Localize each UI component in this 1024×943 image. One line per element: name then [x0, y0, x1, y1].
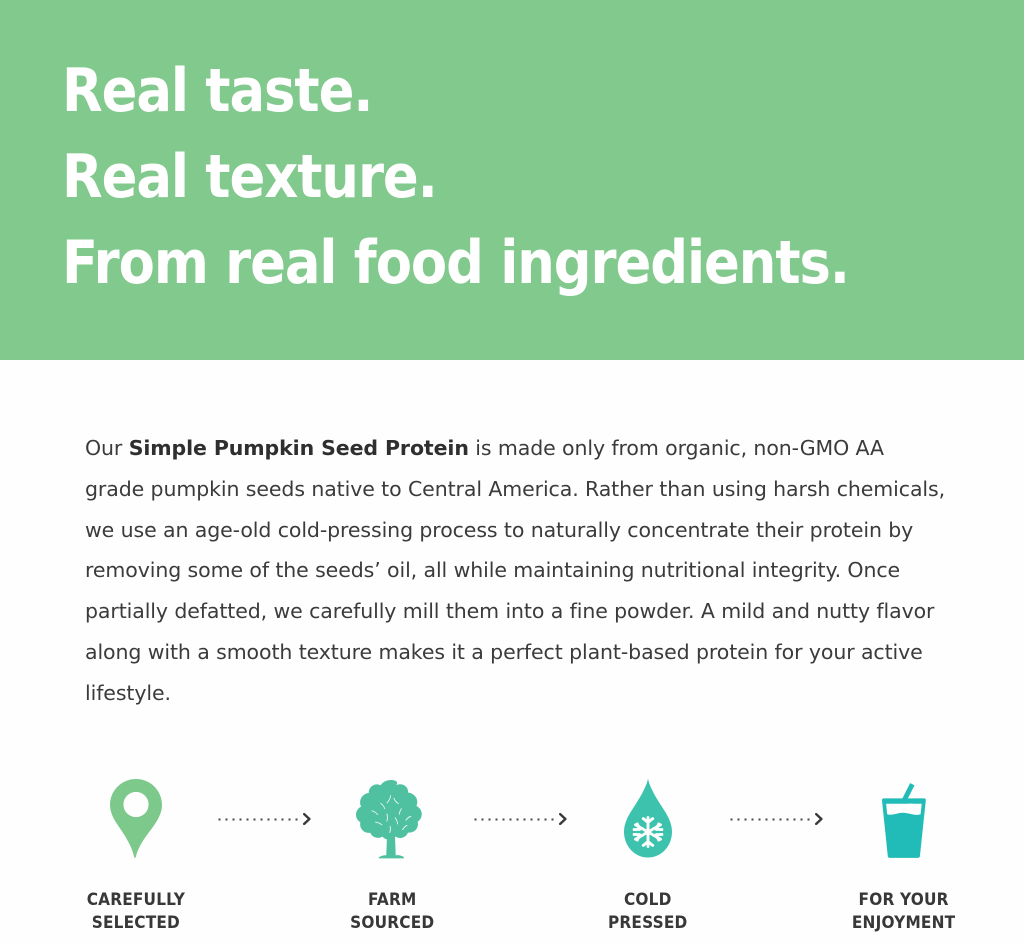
dotted-arrow-right-icon [212, 776, 316, 862]
product-description: Our Simple Pumpkin Seed Protein is made … [85, 428, 947, 714]
process-steps: CAREFULLY SELECTED [60, 776, 980, 943]
hero-headline-line-1: Real taste. [62, 48, 849, 134]
label-line-2: SOURCED [350, 911, 434, 934]
dotted-line [472, 818, 558, 821]
description-rest: is made only from organic, non-GMO AA gr… [85, 436, 945, 705]
chevron-right-icon [559, 813, 568, 825]
product-description-paragraph: Our Simple Pumpkin Seed Protein is made … [85, 428, 947, 714]
label-line-1: FOR YOUR [852, 888, 955, 911]
label-line-2: SELECTED [87, 911, 185, 934]
chevron-right-icon [303, 813, 312, 825]
product-info-page: Real taste. Real texture. From real food… [0, 0, 1024, 943]
dotted-line [728, 818, 814, 821]
process-step-for-your-enjoyment: FOR YOUR ENJOYMENT [828, 776, 980, 934]
label-line-1: COLD [608, 888, 687, 911]
description-prefix: Our [85, 436, 129, 460]
label-line-2: ENJOYMENT [852, 911, 955, 934]
hero-headline: Real taste. Real texture. From real food… [62, 48, 849, 306]
process-step-farm-sourced: FARM SOURCED [316, 776, 468, 934]
process-step-label: FOR YOUR ENJOYMENT [852, 888, 955, 934]
label-line-1: FARM [350, 888, 434, 911]
glass-with-straw-icon [874, 776, 934, 862]
tree-icon [353, 776, 431, 862]
product-name: Simple Pumpkin Seed Protein [129, 436, 469, 460]
process-step-label: FARM SOURCED [350, 888, 434, 934]
label-line-2: PRESSED [608, 911, 687, 934]
dotted-arrow-right-icon [468, 776, 572, 862]
water-drop-snowflake-icon [620, 776, 676, 862]
chevron-right-icon [815, 813, 824, 825]
process-step-label: COLD PRESSED [608, 888, 687, 934]
process-step-carefully-selected: CAREFULLY SELECTED [60, 776, 212, 934]
dotted-line [216, 818, 302, 821]
hero-banner: Real taste. Real texture. From real food… [0, 0, 1024, 360]
label-line-1: CAREFULLY [87, 888, 185, 911]
process-step-label: CAREFULLY SELECTED [87, 888, 185, 934]
process-step-cold-pressed: COLD PRESSED [572, 776, 724, 934]
hero-headline-line-3: From real food ingredients. [62, 220, 849, 306]
map-pin-icon [107, 776, 165, 862]
dotted-arrow-right-icon [724, 776, 828, 862]
hero-headline-line-2: Real texture. [62, 134, 849, 220]
